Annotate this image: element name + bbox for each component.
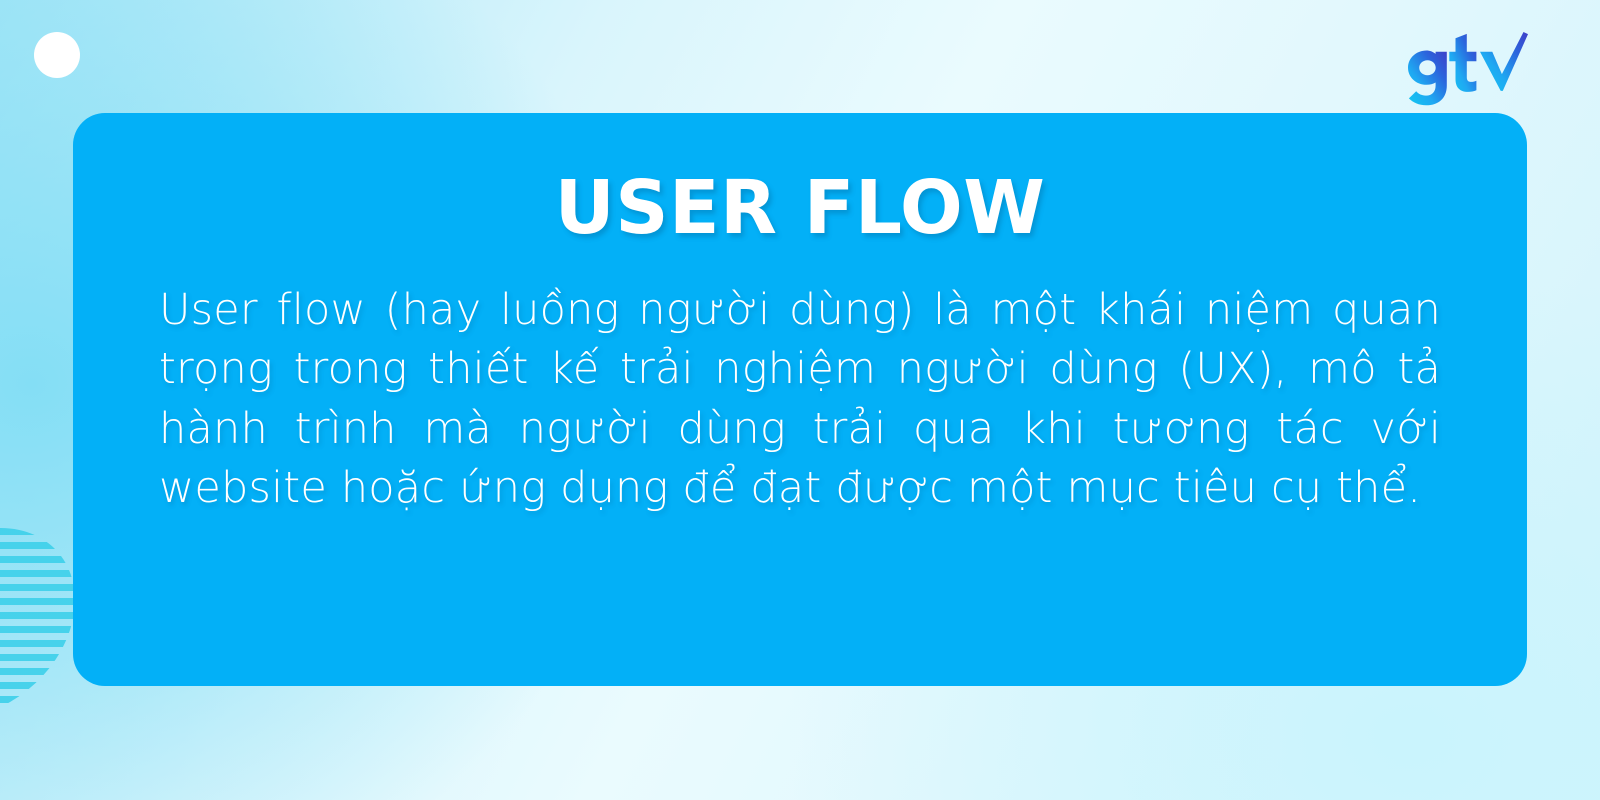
user-flow-card: USER FLOW User flow (hay luồng người dùn… — [73, 113, 1527, 686]
white-circle-decoration — [34, 32, 80, 78]
page-title: USER FLOW — [159, 171, 1441, 245]
gtv-logo[interactable] — [1392, 32, 1528, 116]
slide-canvas: USER FLOW User flow (hay luồng người dùn… — [0, 0, 1600, 800]
card-body-text: User flow (hay luồng người dùng) là một … — [159, 281, 1441, 518]
